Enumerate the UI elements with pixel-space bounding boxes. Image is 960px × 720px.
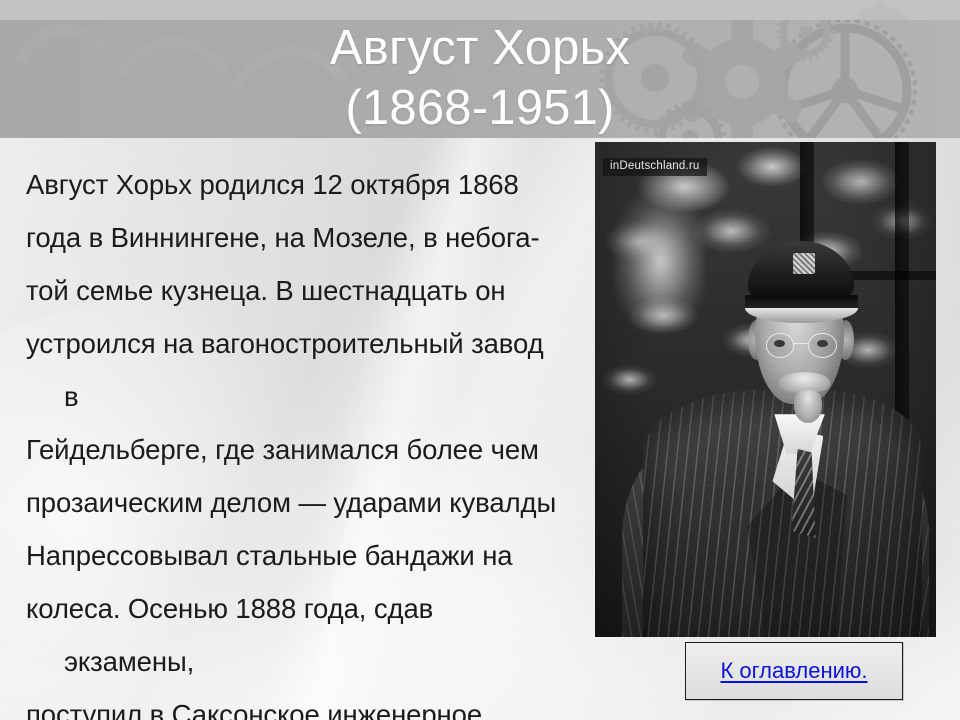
photo-cap-badge — [793, 253, 815, 274]
table-of-contents-button[interactable]: К оглавлению. — [685, 642, 903, 700]
presentation-slide: Август Хорьх (1868-1951) Август Хорьх ро… — [0, 0, 960, 720]
photo-building — [615, 192, 704, 331]
spoked-wheel-icon — [775, 20, 915, 138]
photo-glasses-left — [766, 333, 795, 359]
photo-moustache — [779, 372, 830, 393]
photo-goatee — [794, 390, 821, 422]
photo-glasses-right — [808, 333, 837, 359]
photo-necktie — [789, 449, 816, 538]
photo-trellis-rail — [783, 271, 936, 280]
photo-right-arm — [841, 449, 930, 637]
body-line: экзамены, — [26, 635, 726, 688]
portrait-photo: inDeutschland.ru — [595, 142, 936, 637]
photo-watermark: inDeutschland.ru — [603, 158, 707, 176]
photo-eye-left — [774, 340, 785, 347]
gear-icon — [838, 0, 922, 20]
photo-vest — [745, 469, 847, 637]
photo-ear-left — [748, 320, 765, 360]
photo-trellis-post — [895, 142, 909, 528]
body-line: поступил в Саксонское инженерное — [26, 688, 726, 720]
photo-trellis-post — [800, 142, 814, 528]
gear-decoration-header — [0, 20, 960, 138]
photo-eye-right — [817, 340, 828, 347]
photo-cap-peak — [745, 308, 858, 323]
header-top-strip — [0, 0, 960, 20]
photo-ear-right — [837, 320, 854, 360]
gear-icon — [679, 20, 804, 138]
table-of-contents-link[interactable]: К оглавлению. — [720, 659, 867, 683]
gear-decoration-strip — [0, 0, 960, 20]
photo-grain — [595, 142, 936, 637]
gear-icon — [656, 104, 724, 138]
photo-collar — [762, 414, 830, 454]
photo-left-arm — [622, 439, 738, 637]
photo-glasses-bridge — [794, 343, 808, 345]
gear-icon — [778, 20, 832, 59]
photo-vignette — [595, 142, 936, 637]
photo-shirt — [766, 429, 824, 513]
photo-cap-band — [745, 295, 858, 312]
photo-cap — [748, 241, 854, 300]
photo-torso-suit — [643, 390, 923, 638]
gear-icon — [602, 25, 708, 131]
slide-header-band — [0, 20, 960, 138]
photo-head — [755, 276, 844, 405]
photo-background — [595, 142, 936, 637]
